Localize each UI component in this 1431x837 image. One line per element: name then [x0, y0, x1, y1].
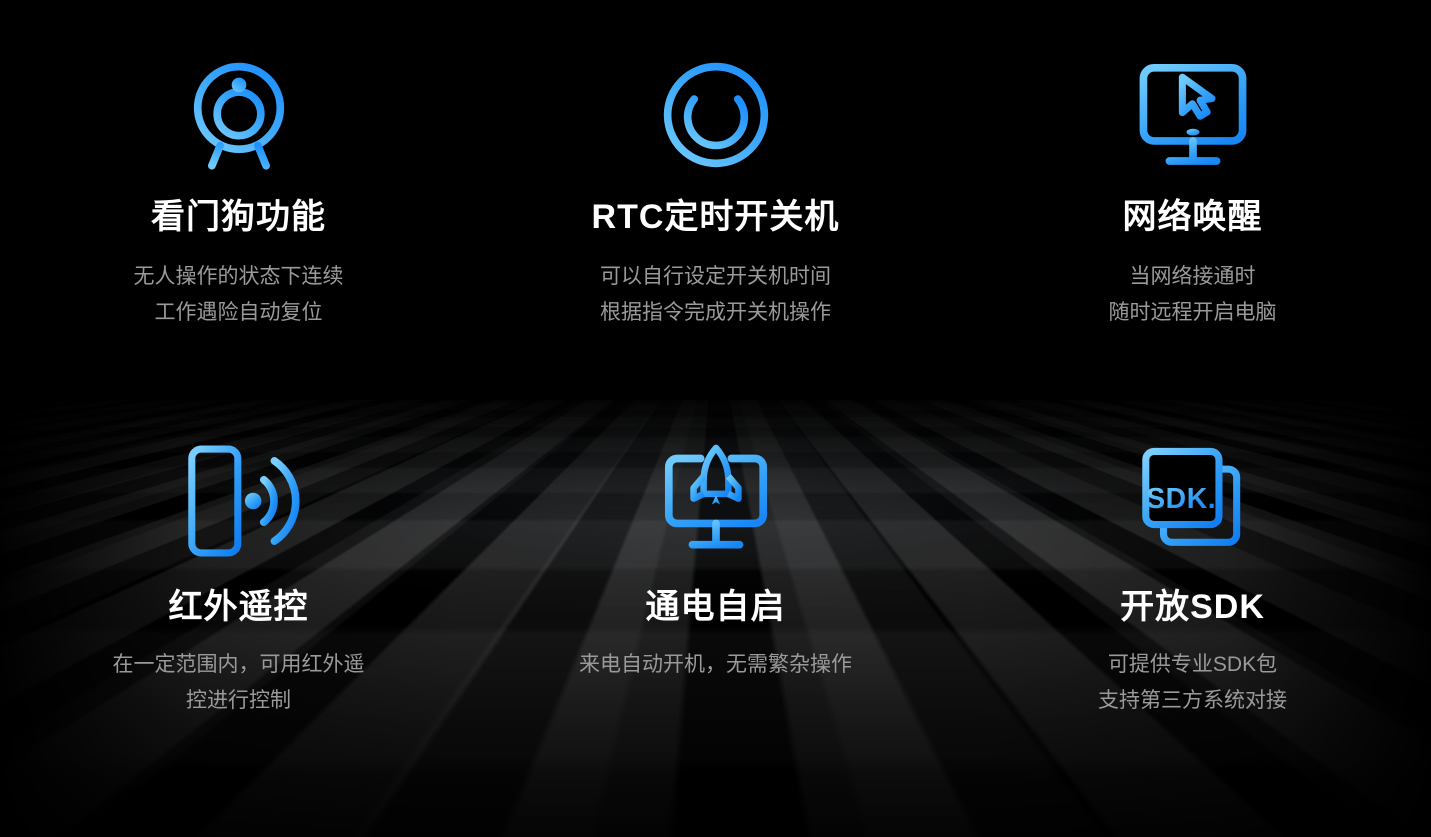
feature-description: 在一定范围内，可用红外遥 控进行控制	[113, 647, 365, 719]
description-line-1: 可以自行设定开关机时间	[600, 259, 831, 295]
infrared-remote-icon	[180, 442, 298, 560]
feature-title: 通电自启	[646, 588, 786, 627]
webcam-icon	[180, 56, 298, 174]
feature-description: 可提供专业SDK包 支持第三方系统对接	[1098, 647, 1287, 719]
description-line-1: 当网络接通时	[1109, 259, 1277, 295]
power-button-icon	[657, 56, 775, 174]
feature-description: 可以自行设定开关机时间 根据指令完成开关机操作	[600, 259, 831, 331]
monitor-rocket-icon	[657, 442, 775, 560]
feature-card-rtc-timer[interactable]: RTC定时开关机 可以自行设定开关机时间 根据指令完成开关机操作	[477, 0, 954, 420]
description-line-2: 根据指令完成开关机操作	[600, 295, 831, 331]
description-line-1: 可提供专业SDK包	[1098, 647, 1287, 683]
feature-card-auto-power-on[interactable]: 通电自启 来电自动开机，无需繁杂操作	[477, 420, 954, 837]
description-line-1: 来电自动开机，无需繁杂操作	[579, 647, 852, 683]
description-line-2: 随时远程开启电脑	[1109, 295, 1277, 331]
feature-description: 来电自动开机，无需繁杂操作	[579, 647, 852, 683]
sdk-icon-label: SDK.	[1146, 483, 1216, 515]
feature-description: 当网络接通时 随时远程开启电脑	[1109, 259, 1277, 331]
description-line-2: 支持第三方系统对接	[1098, 683, 1287, 719]
feature-title: RTC定时开关机	[592, 198, 840, 237]
feature-description: 无人操作的状态下连续 工作遇险自动复位	[134, 259, 344, 331]
sdk-windows-icon: SDK.	[1134, 442, 1252, 560]
feature-card-wake-on-lan[interactable]: 网络唤醒 当网络接通时 随时远程开启电脑	[954, 0, 1431, 420]
feature-title: 看门狗功能	[151, 198, 326, 237]
monitor-cursor-icon	[1134, 56, 1252, 174]
feature-title: 红外遥控	[169, 588, 309, 627]
feature-card-watchdog[interactable]: 看门狗功能 无人操作的状态下连续 工作遇险自动复位	[0, 0, 477, 420]
feature-card-infrared-remote[interactable]: 红外遥控 在一定范围内，可用红外遥 控进行控制	[0, 420, 477, 837]
description-line-1: 在一定范围内，可用红外遥	[113, 647, 365, 683]
feature-title: 开放SDK	[1120, 588, 1265, 627]
feature-title: 网络唤醒	[1123, 198, 1263, 237]
feature-showcase-panel: 看门狗功能 无人操作的状态下连续 工作遇险自动复位 RTC定时开关机 可以自行设…	[0, 0, 1431, 837]
description-line-2: 工作遇险自动复位	[134, 295, 344, 331]
feature-grid: 看门狗功能 无人操作的状态下连续 工作遇险自动复位 RTC定时开关机 可以自行设…	[0, 0, 1431, 837]
description-line-2: 控进行控制	[113, 683, 365, 719]
feature-card-open-sdk[interactable]: SDK. 开放SDK 可提供专业SDK包 支持第三方系统对接	[954, 420, 1431, 837]
description-line-1: 无人操作的状态下连续	[134, 259, 344, 295]
